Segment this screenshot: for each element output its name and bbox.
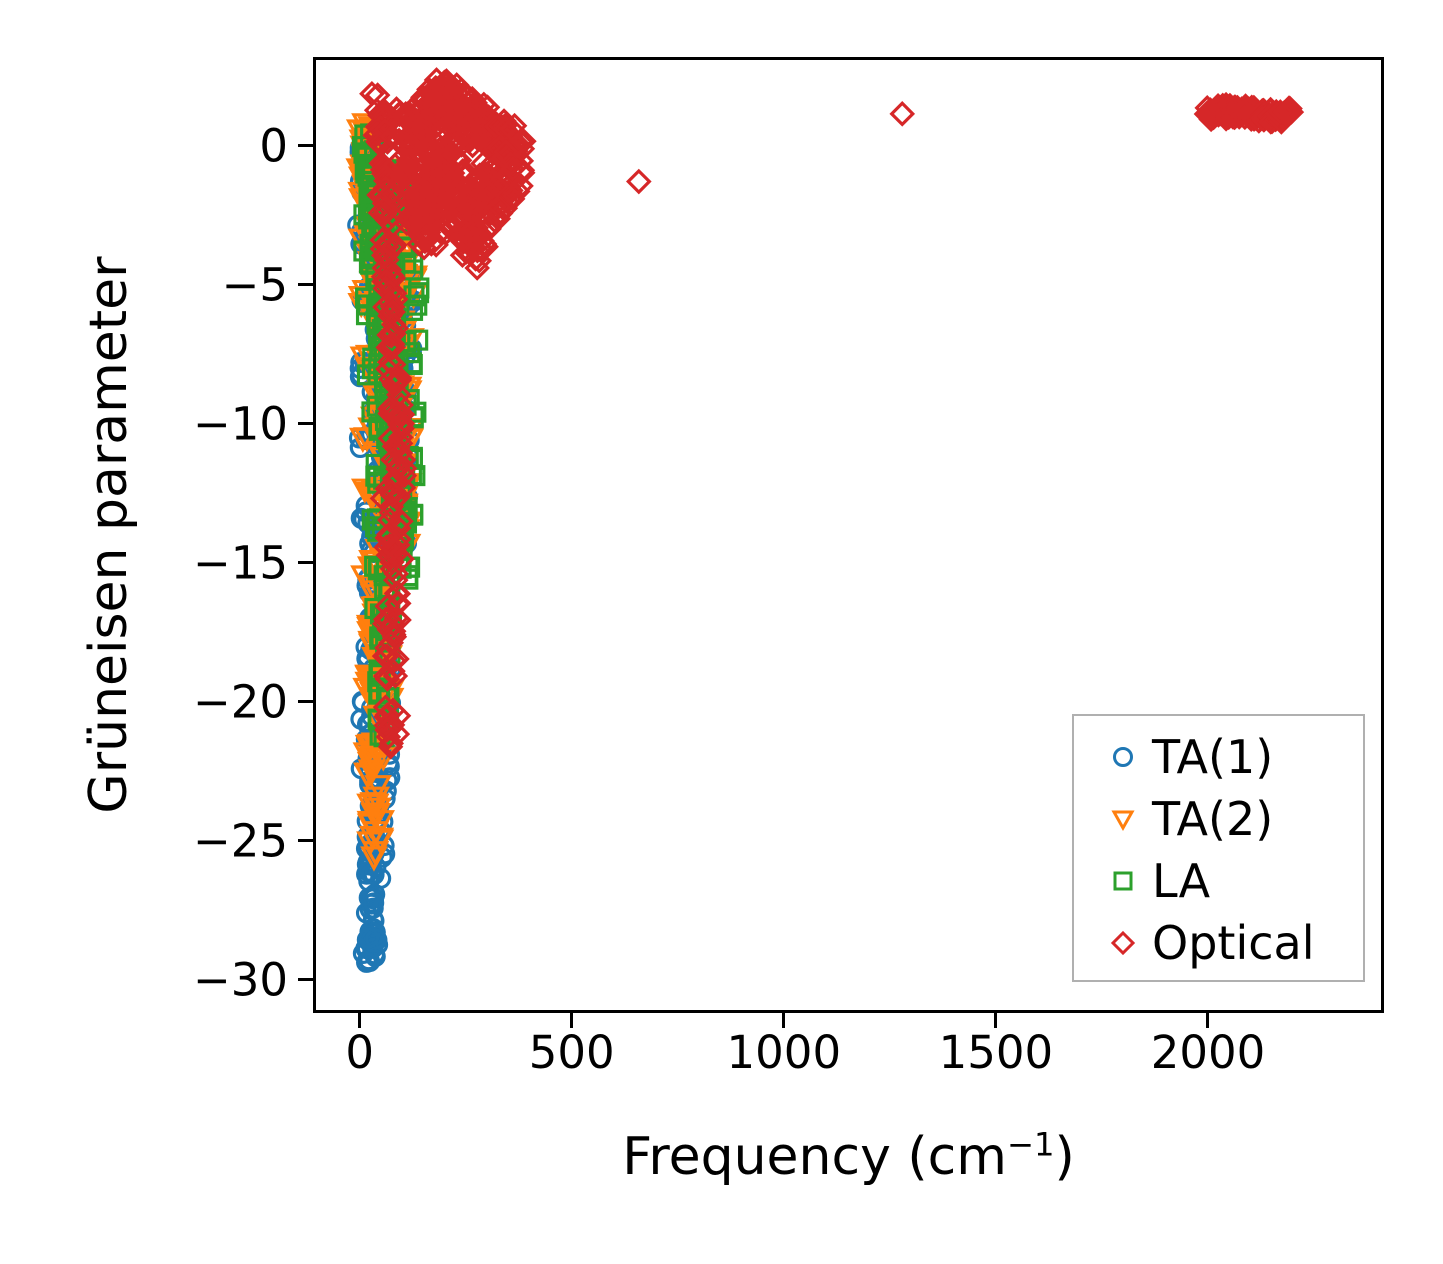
legend-item-optical[interactable]: Optical: [1074, 912, 1363, 974]
x-tick-label: 0: [345, 1030, 374, 1075]
legend-item-ta2[interactable]: TA(2): [1074, 788, 1363, 850]
y-tick-label: −30: [193, 957, 288, 1002]
legend-label-optical: Optical: [1152, 920, 1314, 966]
figure-canvas: 05001000150020000−5−10−15−20−25−30 Frequ…: [0, 0, 1443, 1264]
y-tick: [298, 283, 313, 286]
y-tick-label: −15: [193, 540, 288, 585]
legend-label-la: LA: [1152, 858, 1210, 904]
triangle-down-open-icon: [1100, 804, 1146, 834]
square-open-icon: [1100, 866, 1146, 896]
x-axis-label-exponent: −1: [1007, 1126, 1055, 1164]
y-tick-label: −5: [222, 262, 288, 307]
y-tick: [298, 144, 313, 147]
x-tick-label: 1000: [727, 1030, 842, 1075]
x-tick-label: 2000: [1151, 1030, 1266, 1075]
y-tick-label: −20: [193, 679, 288, 724]
series-optical: [361, 69, 1302, 757]
circle-open-icon: [1100, 742, 1146, 772]
legend-item-la[interactable]: LA: [1074, 850, 1363, 912]
x-tick-label: 1500: [939, 1030, 1054, 1075]
legend-box: TA(1) TA(2) LA Optical: [1072, 714, 1365, 982]
legend-label-ta1: TA(1): [1152, 734, 1273, 780]
legend-item-ta1[interactable]: TA(1): [1074, 726, 1363, 788]
x-axis-label-text: Frequency (cm−1): [622, 1127, 1075, 1187]
y-tick-label: −10: [193, 401, 288, 446]
y-tick-label: 0: [259, 123, 288, 168]
y-tick: [298, 839, 313, 842]
x-axis-label: Frequency (cm−1): [313, 1126, 1384, 1187]
legend-label-ta2: TA(2): [1152, 796, 1273, 842]
y-tick: [298, 978, 313, 981]
y-tick: [298, 422, 313, 425]
y-tick: [298, 700, 313, 703]
y-tick: [298, 561, 313, 564]
x-tick-label: 500: [529, 1030, 615, 1075]
y-axis-label: Grüneisen parameter: [74, 57, 144, 1013]
diamond-open-icon: [1100, 928, 1146, 958]
y-tick-label: −25: [193, 818, 288, 863]
